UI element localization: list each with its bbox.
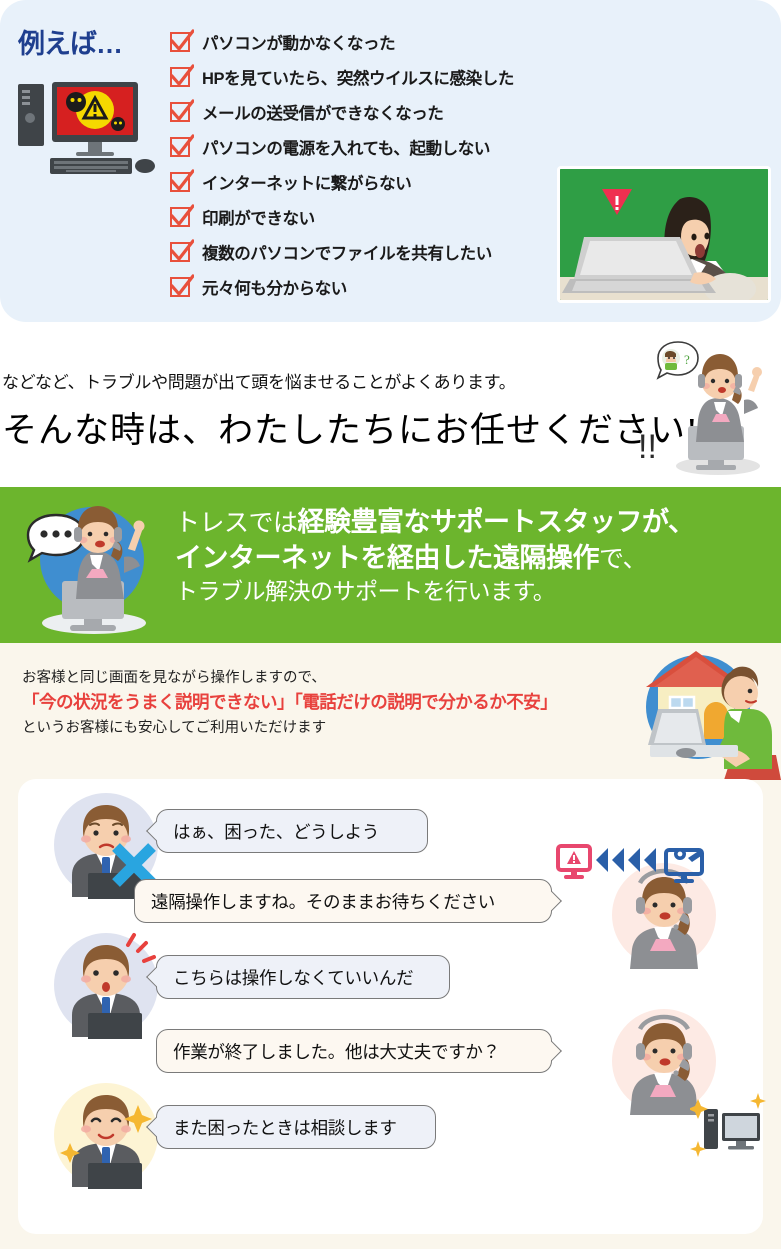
list-item: メールの送受信ができなくなった	[168, 94, 568, 129]
cream-line-1: お客様と同じ画面を見ながら操作しますので、	[22, 667, 557, 689]
checkbox-checked-icon	[168, 274, 194, 300]
checkbox-checked-icon	[168, 204, 194, 230]
banner-line-3: トラブル解決のサポートを行います。	[175, 576, 775, 606]
list-item: インターネットに繋がらない	[168, 164, 568, 199]
bubble-text: はぁ、困った、どうしよう	[173, 819, 379, 844]
person-at-laptop-home-illustration	[628, 645, 781, 780]
list-item-label: パソコンの電源を入れても、起動しない	[202, 135, 490, 159]
bubble-tail	[542, 891, 562, 911]
transition-subtext: などなど、トラブルや問題が出て頭を悩ませることがよくあります。	[2, 368, 515, 393]
list-item: パソコンの電源を入れても、起動しない	[168, 129, 568, 164]
remote-connection-icons	[556, 842, 716, 886]
checkbox-checked-icon	[168, 239, 194, 265]
example-label: 例えば…	[18, 22, 122, 61]
problem-checklist: パソコンが動かなくなった HPを見ていたら、突然ウイルスに感染した メールの送受…	[168, 24, 568, 304]
cream-line-2: 「今の状況をうまく説明できない」「電話だけの説明で分かるか不安」	[22, 689, 557, 716]
banner-line-1: トレスでは経験豊富なサポートスタッフが、	[175, 505, 775, 541]
list-item-label: 元々何も分からない	[202, 275, 347, 299]
checkbox-checked-icon	[168, 99, 194, 125]
checklist-box: 例えば…	[0, 0, 781, 322]
list-item: 印刷ができない	[168, 199, 568, 234]
avatar-customer-happy	[52, 1081, 160, 1189]
transition-headline: そんな時は、わたしたちにお任せください!!	[2, 402, 711, 453]
left-arrows-icon	[596, 848, 656, 872]
bubble-text: また困ったときは相談します	[173, 1115, 397, 1140]
list-item: HPを見ていたら、突然ウイルスに感染した	[168, 59, 568, 94]
list-item: 複数のパソコンでファイルを共有したい	[168, 234, 568, 269]
banner-line2-normal: で、	[599, 545, 647, 573]
svg-text:!!: !!	[638, 428, 657, 466]
banner-line2-bold: インターネットを経由した遠隔操作	[175, 543, 599, 573]
warning-monitor-icon	[558, 846, 590, 879]
speech-bubble-customer-1: はぁ、困った、どうしよう	[156, 809, 428, 853]
cream-line-3: というお客様にも安心してご利用いただけます	[22, 717, 557, 739]
list-item-label: 複数のパソコンでファイルを共有したい	[202, 240, 492, 264]
checkbox-checked-icon	[168, 169, 194, 195]
avatar-customer-surprised	[52, 931, 160, 1039]
bubble-tail	[542, 1041, 562, 1061]
remote-support-section: お客様と同じ画面を見ながら操作しますので、 「今の状況をうまく説明できない」「電…	[0, 643, 781, 1249]
settings-monitor-icon	[666, 848, 704, 883]
list-item: パソコンが動かなくなった	[168, 24, 568, 59]
svg-text:?: ?	[684, 352, 690, 367]
checkbox-checked-icon	[168, 64, 194, 90]
speech-bubble-staff-2: 作業が終了しました。他は大丈夫ですか？	[156, 1029, 552, 1073]
banner-text: トレスでは経験豊富なサポートスタッフが、 インターネットを経由した遠隔操作で、 …	[175, 505, 775, 607]
support-staff-pointing-illustration: ? !!	[636, 340, 781, 480]
list-item: 元々何も分からない	[168, 269, 568, 304]
bubble-text: 作業が終了しました。他は大丈夫ですか？	[173, 1039, 500, 1064]
support-staff-speaking-illustration	[14, 497, 164, 637]
speech-bubble-customer-2: こちらは操作しなくていいんだ	[156, 955, 450, 999]
banner-line1-normal: トレスでは	[175, 509, 298, 537]
list-item-label: HPを見ていたら、突然ウイルスに感染した	[202, 65, 514, 89]
speech-bubble-customer-3: また困ったときは相談します	[156, 1105, 436, 1149]
list-item-label: インターネットに繋がらない	[202, 170, 411, 194]
checkbox-checked-icon	[168, 29, 194, 55]
computer-sparkle-icon	[690, 1089, 768, 1165]
banner-line1-bold: 経験豊富なサポートスタッフが、	[298, 507, 695, 537]
green-banner: トレスでは経験豊富なサポートスタッフが、 インターネットを経由した遠隔操作で、 …	[0, 487, 781, 643]
speech-bubble-staff-1: 遠隔操作しますね。そのままお待ちください	[134, 879, 552, 923]
list-item-label: 印刷ができない	[202, 205, 315, 229]
list-item-label: メールの送受信ができなくなった	[202, 100, 444, 124]
banner-line-2: インターネットを経由した遠隔操作で、	[175, 541, 775, 577]
list-item-label: パソコンが動かなくなった	[202, 30, 395, 54]
cream-description: お客様と同じ画面を見ながら操作しますので、 「今の状況をうまく説明できない」「電…	[22, 667, 557, 739]
shocked-woman-laptop-photo	[557, 166, 771, 303]
virus-infected-pc-icon	[14, 74, 160, 178]
bubble-text: 遠隔操作しますね。そのままお待ちください	[151, 889, 495, 914]
bubble-text: こちらは操作しなくていいんだ	[173, 965, 413, 990]
checkbox-checked-icon	[168, 134, 194, 160]
